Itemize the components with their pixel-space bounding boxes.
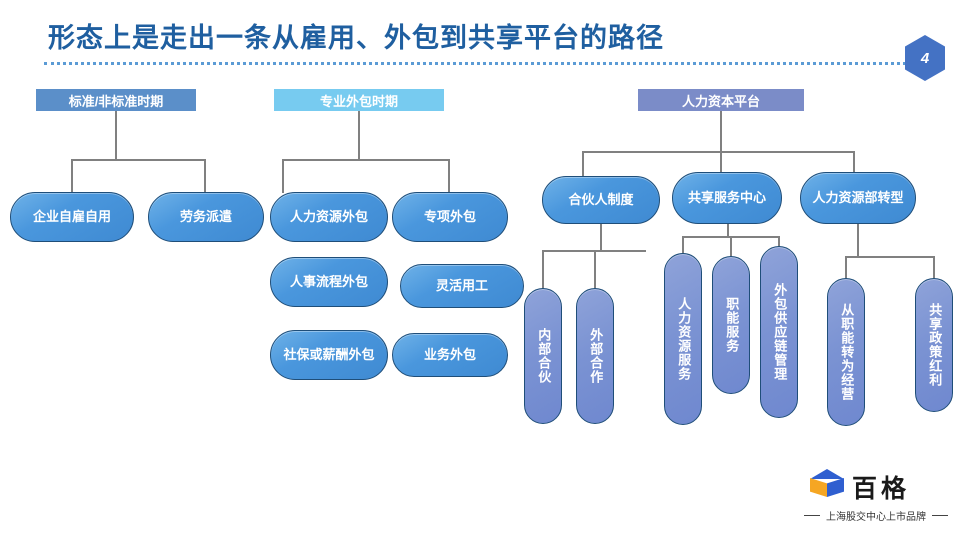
- connector-standard-stem: [115, 111, 117, 159]
- connector-partner-right: [594, 250, 596, 290]
- section-header-standard-period[interactable]: 标准/非标准时期: [36, 89, 196, 111]
- connector-shared-stem: [727, 224, 729, 236]
- connector-hrdept-bus: [845, 256, 935, 258]
- node-label: 人力资源部转型: [806, 191, 909, 206]
- connector-outsourcing-right: [448, 159, 450, 193]
- cube-right-face: [827, 478, 844, 497]
- node-hr-outsourcing[interactable]: 人力资源外包: [270, 192, 388, 242]
- connector-partner-bus-right: [596, 250, 646, 252]
- node-functional-services[interactable]: 职能服务: [712, 256, 750, 394]
- dash-left-icon: [804, 515, 820, 516]
- connector-platform-branch-hrdept: [853, 151, 855, 173]
- node-label: 合伙人制度: [562, 193, 639, 208]
- section-header-human-capital-platform[interactable]: 人力资本平台: [638, 89, 804, 111]
- connector-standard-bus: [71, 159, 206, 161]
- node-hr-process-outsourcing[interactable]: 人事流程外包: [270, 257, 388, 307]
- connector-hrdept-stem: [857, 224, 859, 256]
- node-labor-dispatch[interactable]: 劳务派遣: [148, 192, 264, 242]
- connector-platform-stem: [720, 111, 722, 151]
- title-divider: [44, 62, 912, 65]
- node-label: 业务外包: [418, 348, 482, 363]
- page-title: 形态上是走出一条从雇用、外包到共享平台的路径: [48, 16, 664, 55]
- node-self-employment[interactable]: 企业自雇自用: [10, 192, 134, 242]
- node-label: 人力资源外包: [284, 210, 374, 225]
- section-header-label: 专业外包时期: [320, 91, 398, 110]
- node-function-to-operation[interactable]: 从职能转为经营: [827, 278, 865, 426]
- node-external-cooperation[interactable]: 外部合作: [576, 288, 614, 424]
- node-label: 企业自雇自用: [27, 210, 117, 225]
- node-shared-policy-dividend[interactable]: 共享政策红利: [915, 278, 953, 412]
- node-special-outsourcing[interactable]: 专项外包: [392, 192, 508, 242]
- page-number-badge: 4: [905, 35, 945, 81]
- node-label: 人力资源服务: [676, 297, 691, 381]
- node-partner-system[interactable]: 合伙人制度: [542, 176, 660, 224]
- cube-top-face: [810, 469, 844, 479]
- connector-outsourcing-bus: [282, 159, 450, 161]
- connector-platform-branch-partner: [582, 151, 584, 177]
- connector-hrdept-left: [845, 256, 847, 280]
- connector-standard-left: [71, 159, 73, 193]
- connector-shared-mid: [730, 236, 732, 258]
- node-hr-services[interactable]: 人力资源服务: [664, 253, 702, 425]
- node-label: 灵活用工: [430, 279, 494, 294]
- node-hr-department-transformation[interactable]: 人力资源部转型: [800, 172, 916, 224]
- node-social-security-payroll-outsourcing[interactable]: 社保或薪酬外包: [270, 330, 388, 380]
- node-label: 共享服务中心: [682, 191, 772, 206]
- connector-hrdept-right: [933, 256, 935, 280]
- node-shared-service-center[interactable]: 共享服务中心: [672, 172, 782, 224]
- node-label: 外包供应链管理: [772, 283, 787, 381]
- dash-right-icon: [932, 515, 948, 516]
- node-outsourcing-supply-chain-management[interactable]: 外包供应链管理: [760, 246, 798, 418]
- section-header-label: 标准/非标准时期: [69, 91, 164, 110]
- node-label: 内部合伙: [536, 328, 551, 384]
- node-flexible-employment[interactable]: 灵活用工: [400, 264, 524, 308]
- node-label: 人事流程外包: [284, 275, 374, 290]
- cube-icon: [810, 469, 844, 505]
- connector-platform-bus: [582, 151, 854, 153]
- node-label: 从职能转为经营: [839, 303, 854, 401]
- slide-canvas: 形态上是走出一条从雇用、外包到共享平台的路径 4 标准/非标准时期 专业外包时期…: [0, 0, 960, 540]
- logo-row: 百格: [800, 466, 952, 508]
- node-label: 职能服务: [724, 297, 739, 353]
- node-label: 社保或薪酬外包: [277, 348, 380, 363]
- connector-partner-left: [542, 250, 544, 290]
- connector-partner-stem: [600, 224, 602, 250]
- section-header-label: 人力资本平台: [682, 91, 760, 110]
- node-label: 劳务派遣: [174, 210, 238, 225]
- node-business-outsourcing[interactable]: 业务外包: [392, 333, 508, 377]
- node-internal-partnership[interactable]: 内部合伙: [524, 288, 562, 424]
- brand-logo: 百格 上海股交中心上市品牌: [800, 466, 952, 532]
- logo-tagline: 上海股交中心上市品牌: [826, 508, 926, 523]
- logo-tagline-row: 上海股交中心上市品牌: [800, 508, 952, 523]
- cube-left-face: [810, 478, 827, 497]
- node-label: 共享政策红利: [927, 303, 942, 387]
- connector-platform-branch-shared: [720, 151, 722, 173]
- node-label: 专项外包: [418, 210, 482, 225]
- node-label: 外部合作: [588, 328, 603, 384]
- page-number-label: 4: [905, 35, 945, 81]
- connector-partner-bus: [542, 250, 596, 252]
- connector-outsourcing-left: [282, 159, 284, 193]
- connector-outsourcing-stem: [358, 111, 360, 159]
- connector-standard-right: [204, 159, 206, 193]
- section-header-professional-outsourcing-period[interactable]: 专业外包时期: [274, 89, 444, 111]
- logo-name: 百格: [852, 469, 910, 505]
